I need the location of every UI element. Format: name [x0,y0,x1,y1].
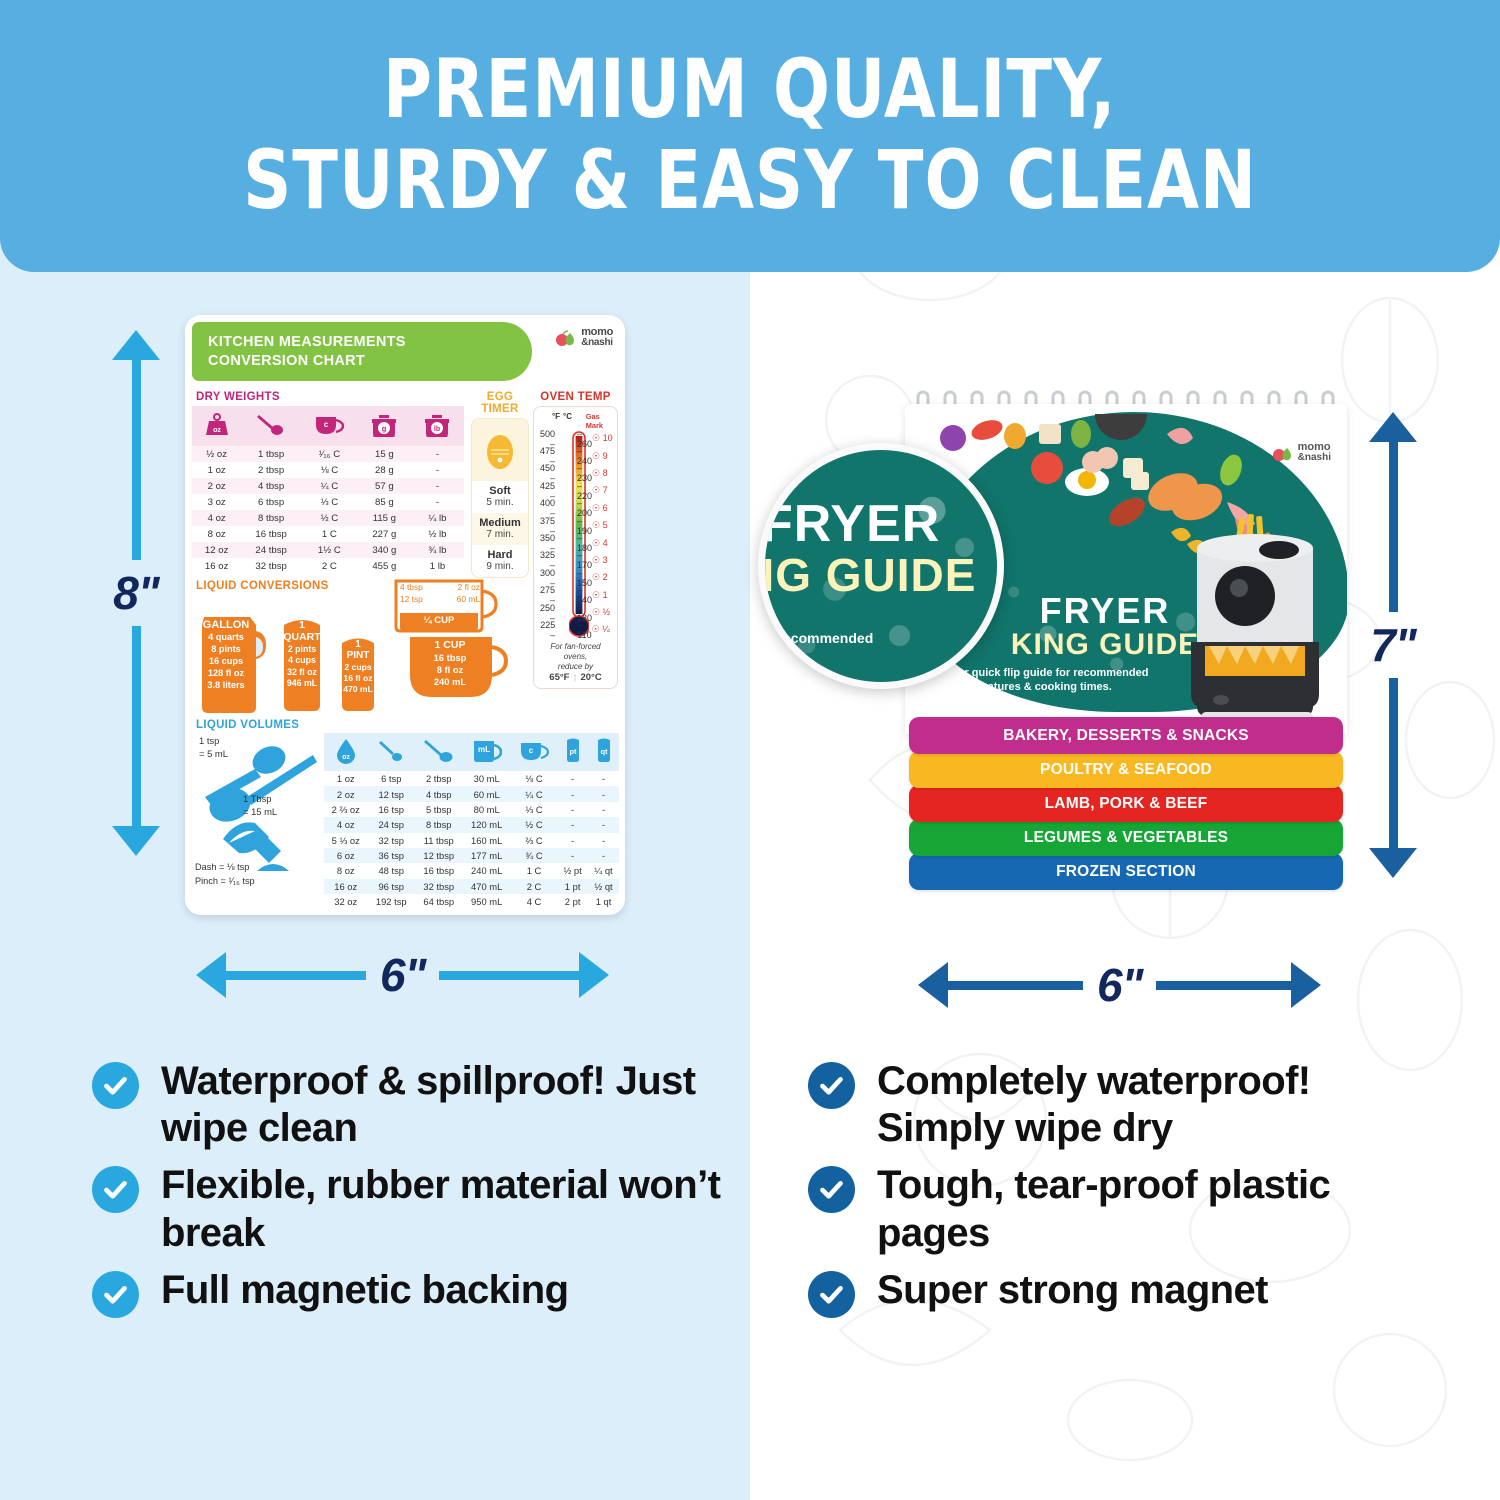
magnifier-subtitle-line-2: es. [783,649,873,670]
oven-temp-row: 375 –– 190☉ 5 [538,517,613,534]
check-badge [92,1271,139,1318]
feature-text: Full magnetic backing [161,1267,568,1314]
liquid-volumes-heading: LIQUID VOLUMES [196,719,464,731]
oven-temp-row: 350 –– 180☉ 4 [538,534,613,551]
gallon-amount: 1 [196,607,256,619]
egg-icon [472,419,528,481]
oven-temp-row: 275 –– 140☉ 1 [538,587,613,604]
svg-text:c: c [324,420,329,429]
category-tab-0[interactable]: BAKERY, DESSERTS & SNACKS [909,717,1343,754]
category-tab-4[interactable]: FROZEN SECTION [909,853,1343,890]
check-badge [92,1166,139,1213]
fan-note-f: 65°F [549,672,569,683]
table-row: 12 oz24 tbsp1½ C340 g¾ lb [192,542,464,558]
egg-timer-row: Hard9 min. [472,545,528,577]
oven-temp-header-row: °F °C Gas Mark [538,412,613,430]
table-row: 32 oz192 tsp64 tbsp950 mL4 C2 pt1 qt [324,894,619,909]
table-row: 16 oz32 tbsp2 C455 g1 lb [192,558,464,574]
vessel-line: 946 mL [274,678,330,689]
check-icon [102,1176,129,1203]
features-list-right: Completely waterproof! Simply wipe dryTo… [808,1058,1448,1328]
category-tab-1[interactable]: POULTRY & SEAFOOD [909,751,1343,788]
arrow-shaft-upper [1389,442,1398,612]
arrow-shaft-right [439,971,579,980]
arrow-head-right [579,952,609,998]
category-tab-label: LEGUMES & VEGETABLES [1024,829,1228,847]
oven-temp-row: 300 –– 150☉ 2 [538,569,613,586]
table-row: 3 oz6 tbsp⅓ C85 g- [192,494,464,510]
air-fryer-icon [1161,530,1347,734]
arrow-shaft-upper [132,360,141,560]
egg-timer-row: Medium7 min. [472,513,528,545]
check-badge [808,1166,855,1213]
tsp-spoon-icon [367,733,415,771]
chart-title-line-2: CONVERSION CHART [208,352,532,370]
chart-title-line-1: KITCHEN MEASUREMENTS [208,333,532,351]
gallon-pitcher: 1 GALLON 4 quarts8 pints16 cups128 fl oz… [196,601,270,713]
check-icon [102,1072,129,1099]
quarter-cup-tsp: 12 tsp [400,593,423,605]
feature-text: Super strong magnet [877,1267,1268,1314]
check-icon [818,1281,845,1308]
dimension-arrow-left-height: 8" [106,330,166,910]
dimension-arrow-right-height: 7" [1360,412,1426,922]
svg-text:lb: lb [434,426,440,433]
quarter-cup-label: ¼ CUP [400,615,478,626]
svg-text:mL: mL [478,745,490,754]
cup-c-icon: c [511,733,557,771]
dry-weights-heading: DRY WEIGHTS [196,391,464,403]
arrow-shaft-left [226,971,366,980]
mug-ml-icon: mL [463,733,511,771]
kitchen-conversion-chart-product: KITCHEN MEASUREMENTS CONVERSION CHART mo… [185,315,625,915]
brand-name-line-2: &nashi [581,338,613,348]
vessel-line: 8 pints [196,644,256,656]
category-tab-3[interactable]: LEGUMES & VEGETABLES [909,819,1343,856]
cup-c-icon: c [301,406,358,446]
fan-forced-note: For fan-forced ovens, reduce by 65°F | 2… [538,642,613,684]
arrow-head-left [196,952,226,998]
egg-timer-row: Soft5 min. [472,481,528,513]
arrow-head-up [1369,412,1417,442]
feature-item: Full magnetic backing [92,1267,732,1318]
feature-text: Tough, tear-proof plastic pages [877,1162,1448,1256]
arrow-head-up [112,330,160,360]
brand-logo: momo &nashi [555,327,613,348]
qt-can-icon: qt [588,733,619,771]
arrow-shaft-lower [1389,678,1398,848]
left-height-label: 8" [113,566,158,620]
oven-temp-row: 425 –– 220☉ 7 [538,482,613,499]
weight-oz-icon: oz [192,406,241,446]
svg-text:pt: pt [569,747,577,756]
vessel-line: 2 cups [334,662,382,673]
quart-amount: 1 [274,619,330,631]
magnifier-subtitle-line-1: ecommended [783,628,873,649]
vessel-line: 16 fl oz [334,673,382,684]
scale-g-icon: g [358,406,411,446]
oven-temp-heading: OVEN TEMP [533,391,618,403]
one-cup-label: 1 CUP [408,639,492,651]
pint-unit: PINT [334,650,382,661]
feature-text: Flexible, rubber material won’t break [161,1162,732,1256]
category-tab-2[interactable]: LAMB, PORK & BEEF [909,785,1343,822]
arrow-head-right [1291,962,1321,1008]
quarter-cup-floz: 2 fl oz [458,581,480,593]
vessel-line: 128 fl oz [196,668,256,680]
feature-item: Flexible, rubber material won’t break [92,1162,732,1256]
table-row: 1 oz6 tsp2 tbsp30 mL⅛ C-- [324,771,619,786]
header-line-1: PREMIUM QUALITY, [383,45,1117,136]
pinch-note: Pinch = ¹⁄₁₆ tsp [195,875,255,889]
liquid-volumes-header-row: ozmLcptqt [324,733,619,771]
oven-temp-row: 325 –– 170☉ 3 [538,552,613,569]
fan-note-line-1: For fan-forced ovens, [538,642,613,662]
magnifier-title-line-2: NG GUIDE [758,548,1004,602]
arrow-head-left [918,962,948,1008]
egg-timer-box: Soft5 min.Medium7 min.Hard9 min. [471,418,529,578]
liquid-volumes-area: 1 tsp = 5 mL 1 Tbsp = 15 mL [195,733,619,901]
gallon-unit: GALLON [196,619,256,631]
tbsp-spoon-icon [415,733,463,771]
pint-carton: 1 PINT 2 cups16 fl oz470 mL [334,635,382,713]
chart-title-bar: KITCHEN MEASUREMENTS CONVERSION CHART [192,322,532,381]
table-row: 1 oz2 tbsp⅛ C28 g- [192,462,464,478]
spoon-illustrations: 1 tsp = 5 mL 1 Tbsp = 15 mL [195,733,320,901]
check-badge [92,1062,139,1109]
dry-weights-table: ozcglb½ oz1 tbsp¹⁄₁₆ C15 g-1 oz2 tbsp⅛ C… [192,406,464,574]
quarter-cup-tbsp: 4 tbsp [400,581,423,593]
category-tab-label: LAMB, PORK & BEEF [1045,795,1208,813]
table-row: 2 oz12 tsp4 tbsp60 mL¼ C-- [324,786,619,801]
feature-item: Completely waterproof! Simply wipe dry [808,1058,1448,1152]
vessel-line: 240 mL [408,676,492,688]
feature-text: Waterproof & spillproof! Just wipe clean [161,1058,732,1152]
quarter-cup-ml: 60 mL [457,593,480,605]
arrow-shaft-right [1156,981,1291,990]
table-row: 4 oz8 tbsp½ C115 g¼ lb [192,510,464,526]
header-line-2: STURDY & EASY TO CLEAN [243,136,1257,227]
oven-temp-row: 450 –– 230☉ 8 [538,465,613,482]
quart-unit: QUART [274,631,330,643]
vessel-line: 16 tbsp [408,652,492,664]
oven-temp-row: 475 –– 240☉ 9 [538,447,613,464]
table-row: 6 oz36 tsp12 tbsp177 mL¾ C-- [324,848,619,863]
feature-text: Completely waterproof! Simply wipe dry [877,1058,1448,1152]
quarter-cup: 4 tbsp 2 fl oz 12 tsp 60 mL ¼ CUP [394,577,500,633]
oven-temp-row: 400 –– 200☉ 6 [538,500,613,517]
arrow-shaft-lower [132,626,141,826]
table-row: 8 oz16 tbsp1 C227 g½ lb [192,526,464,542]
check-badge [808,1271,855,1318]
oven-col-f: °F [538,412,560,430]
peach-pear-icon [555,329,577,347]
fan-note-line-2: reduce by [538,662,613,672]
vessel-line: 3.8 liters [196,680,256,692]
spoon-icon [241,406,301,446]
features-list-left: Waterproof & spillproof! Just wipe clean… [92,1058,732,1328]
egg-timer-heading: EGG TIMER [471,391,529,415]
tbsp-note-line-1: 1 Tbsp [243,793,277,806]
check-badge [808,1062,855,1109]
category-tab-label: BAKERY, DESSERTS & SNACKS [1003,727,1249,745]
arrow-head-down [1369,848,1417,878]
table-row: 16 oz96 tsp32 tbsp470 mL2 C1 pt½ qt [324,879,619,894]
dash-note: Dash = ⅛ tsp [195,861,255,875]
right-width-label: 6" [1097,958,1142,1012]
svg-text:oz: oz [213,427,221,434]
table-row: 4 oz24 tsp8 tbsp120 mL½ C-- [324,817,619,832]
check-icon [102,1281,129,1308]
oven-col-c: °C [560,412,586,430]
quart-carton: 1 QUART 2 pints4 cups32 fl oz946 mL [274,615,330,713]
table-row: 5 ⅓ oz32 tsp11 tbsp160 mL⅔ C-- [324,833,619,848]
vessel-line: 2 pints [274,644,330,655]
oven-col-gas: Gas Mark [586,412,613,430]
magnifier-overlay: FRYER NG GUIDE ecommended es. [758,443,1004,689]
droplet-oz-icon: oz [324,733,367,771]
magnifier-title-line-1: FRYER [761,494,1004,554]
arrow-shaft-left [948,981,1083,990]
vessel-line: 32 fl oz [274,667,330,678]
vessel-line: 4 cups [274,655,330,666]
pint-amount: 1 [334,639,382,650]
dry-weights-header-row: ozcglb [192,406,464,446]
oven-temp-box: °F °C Gas Mark [533,406,618,689]
flip-guide-category-tabs: BAKERY, DESSERTS & SNACKSPOULTRY & SEAFO… [909,720,1343,890]
check-icon [818,1176,845,1203]
oven-temp-row: 225 –– 110☉ ¼ [538,621,613,638]
oven-temp-row: 250 –– 120☉ ½ [538,604,613,621]
svg-text:oz: oz [342,754,350,761]
table-row: 8 oz48 tsp16 tbsp240 mL1 C½ pt¼ qt [324,863,619,878]
feature-item: Tough, tear-proof plastic pages [808,1162,1448,1256]
category-tab-label: POULTRY & SEAFOOD [1040,761,1212,779]
dimension-arrow-right-width: 6" [918,955,1338,1015]
feature-item: Super strong magnet [808,1267,1448,1318]
right-height-label: 7" [1370,618,1415,672]
svg-text:g: g [382,424,387,433]
cup-graphics-group: 4 tbsp 2 fl oz 12 tsp 60 mL ¼ CUP 1 CUP … [394,577,508,703]
table-row: 2 ⅔ oz16 tsp5 tbsp80 mL⅓ C-- [324,802,619,817]
svg-text:qt: qt [600,747,608,756]
fan-note-c: 20°C [580,672,601,683]
peach-pear-icon [1272,444,1294,462]
table-row: 2 oz4 tbsp¼ C57 g- [192,478,464,494]
pt-can-icon: pt [557,733,588,771]
flip-guide-brand-logo: momo &nashi [1272,442,1331,463]
arrow-head-down [112,826,160,856]
one-cup: 1 CUP 16 tbsp8 fl oz240 mL [408,635,510,701]
liquid-volumes-table: ozmLcptqt1 oz6 tsp2 tbsp30 mL⅛ C--2 oz12… [324,733,619,909]
left-width-label: 6" [380,948,425,1002]
svg-text:c: c [529,746,534,755]
oven-temp-row: 500 –– 260☉ 10 [538,430,613,447]
vessel-line: 4 quarts [196,632,256,644]
category-tab-label: FROZEN SECTION [1056,863,1196,881]
table-row: ½ oz1 tbsp¹⁄₁₆ C15 g- [192,446,464,462]
dimension-arrow-left-width: 6" [196,945,626,1005]
check-icon [818,1072,845,1099]
vessel-line: 8 fl oz [408,664,492,676]
scale-lb-icon: lb [411,406,464,446]
header-banner: PREMIUM QUALITY, STURDY & EASY TO CLEAN [0,0,1500,272]
vessel-line: 470 mL [334,684,382,695]
feature-item: Waterproof & spillproof! Just wipe clean [92,1058,732,1152]
fg-brand-line-2: &nashi [1298,453,1331,463]
vessel-line: 16 cups [196,656,256,668]
